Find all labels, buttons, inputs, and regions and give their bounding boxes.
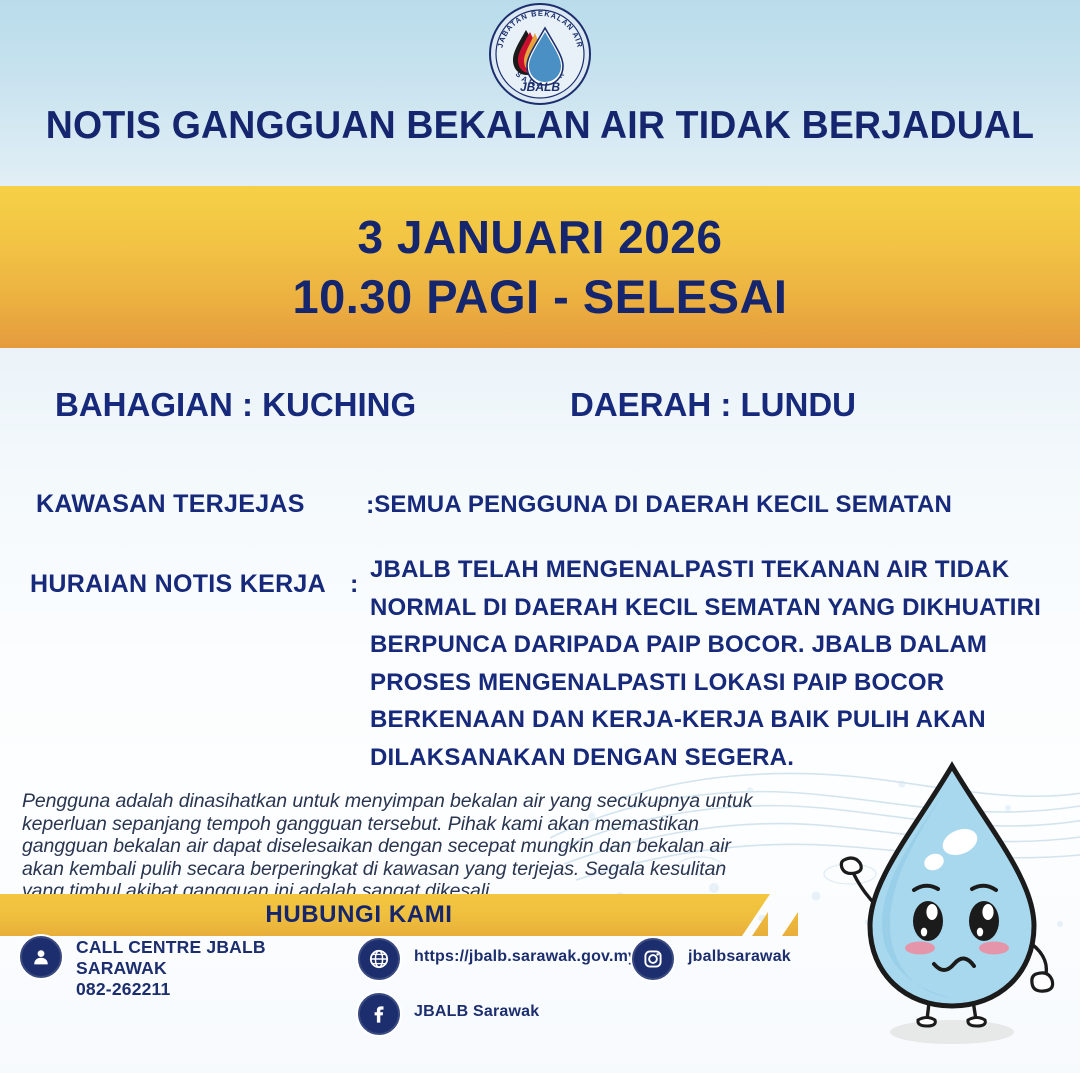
contact-instagram[interactable]: jbalbsarawak [632, 938, 791, 980]
huraian-line: PROSES MENGENALPASTI LOKASI PAIP BOCOR [370, 664, 1020, 702]
contacts-list: CALL CENTRE JBALB SARAWAK 082-262211 htt… [0, 936, 1080, 1066]
huraian-notis-kerja-colon: : [350, 570, 358, 599]
kawasan-terjejas-text: SEMUA PENGGUNA DI DAERAH KECIL SEMATAN [374, 491, 952, 518]
svg-text:JBALB: JBALB [520, 80, 560, 94]
instagram-icon [632, 938, 674, 980]
date-time-band: 3 JANUARI 2026 10.30 PAGI - SELESAI [0, 186, 1080, 348]
globe-icon [358, 938, 400, 980]
instagram-handle-text: jbalbsarawak [688, 938, 791, 967]
contact-banner-title: HUBUNGI KAMI [265, 901, 452, 929]
advisory-paragraph: Pengguna adalah dinasihatkan untuk menyi… [22, 790, 767, 903]
kawasan-terjejas-value: :SEMUA PENGGUNA DI DAERAH KECIL SEMATAN [366, 491, 952, 519]
facebook-icon [358, 993, 400, 1035]
contact-website[interactable]: https://jbalb.sarawak.gov.my/ [358, 938, 642, 980]
contact-facebook[interactable]: JBALB Sarawak [358, 993, 539, 1035]
huraian-line: NORMAL DI DAERAH KECIL SEMATAN YANG DIKH… [370, 589, 1020, 627]
facebook-name-text: JBALB Sarawak [414, 993, 539, 1022]
bahagian-text: BAHAGIAN : KUCHING [55, 386, 416, 424]
huraian-notis-kerja-label: HURAIAN NOTIS KERJA [30, 570, 326, 599]
huraian-line: JBALB TELAH MENGENALPASTI TEKANAN AIR TI… [370, 551, 1020, 589]
notice-date: 3 JANUARI 2026 [358, 207, 723, 267]
kawasan-terjejas-label: KAWASAN TERJEJAS [36, 490, 305, 519]
contact-banner: HUBUNGI KAMI [0, 894, 1080, 936]
huraian-line: BERPUNCA DARIPADA PAIP BOCOR. JBALB DALA… [370, 626, 1020, 664]
huraian-notis-kerja-value: JBALB TELAH MENGENALPASTI TEKANAN AIR TI… [370, 551, 1020, 776]
huraian-line: DILAKSANAKAN DENGAN SEGERA. [370, 739, 1020, 777]
huraian-line: BERKENAAN DAN KERJA-KERJA BAIK PULIH AKA… [370, 701, 1020, 739]
call-centre-text: CALL CENTRE JBALB SARAWAK 082-262211 [76, 936, 266, 1000]
water-disruption-notice-poster: JABATAN BEKALAN AIR LUAR BANDAR SARAWAK … [0, 0, 1080, 1073]
website-url-text: https://jbalb.sarawak.gov.my/ [414, 938, 642, 967]
banner-slash-decoration [782, 894, 798, 936]
poster-title: NOTIS GANGGUAN BEKALAN AIR TIDAK BERJADU… [22, 104, 1059, 148]
region-row: BAHAGIAN : KUCHING DAERAH : LUNDU [0, 386, 1080, 432]
daerah-text: DAERAH : LUNDU [570, 386, 856, 424]
contact-call-centre[interactable]: CALL CENTRE JBALB SARAWAK 082-262211 [20, 936, 266, 1000]
contact-banner-shape: HUBUNGI KAMI [0, 894, 770, 936]
poster-body: BAHAGIAN : KUCHING DAERAH : LUNDU KAWASA… [0, 348, 1080, 1073]
jbalb-logo: JABATAN BEKALAN AIR LUAR BANDAR SARAWAK … [488, 2, 592, 106]
person-icon [20, 936, 62, 978]
notice-time: 10.30 PAGI - SELESAI [293, 267, 788, 327]
poster-header: JABATAN BEKALAN AIR LUAR BANDAR SARAWAK … [0, 0, 1080, 186]
